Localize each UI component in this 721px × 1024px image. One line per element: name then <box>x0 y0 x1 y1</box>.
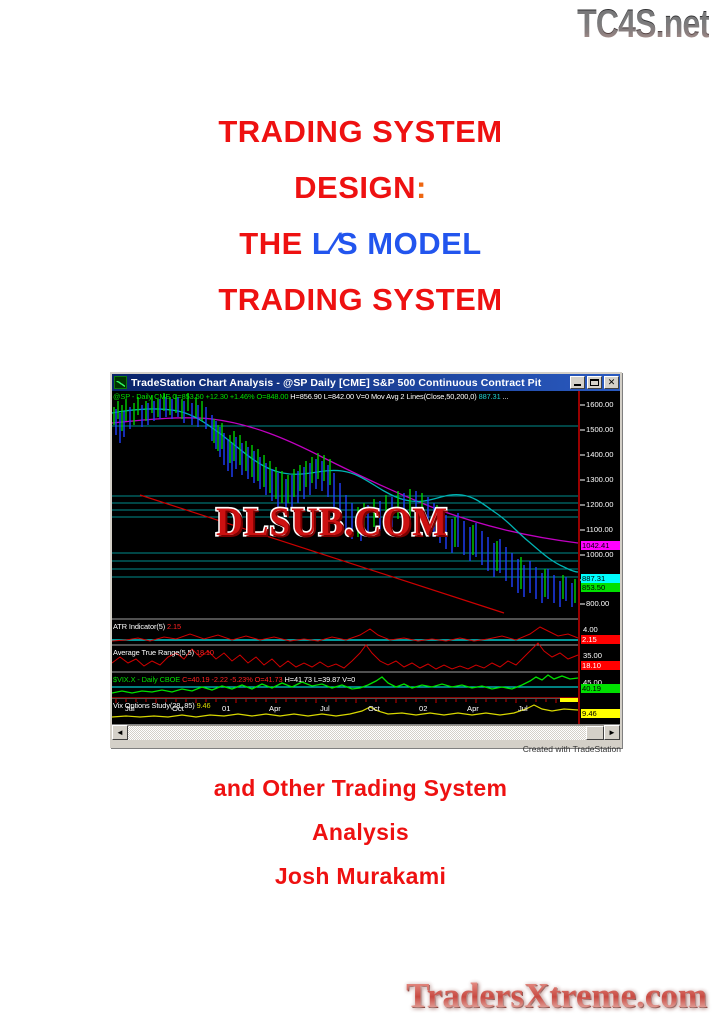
quote-change: +12.30 <box>206 392 228 401</box>
quote-volume: V=0 <box>356 392 369 401</box>
site-logo-top: TC4S.net <box>577 2 709 47</box>
price-tick-1100: 1100.00 <box>586 525 613 534</box>
scroll-right-arrow-icon[interactable]: ► <box>604 725 620 740</box>
quote-line-main: @SP - Daily CME C=853.50 +12.30 +1.46% O… <box>113 392 508 401</box>
quote-change-pct: +1.46% <box>230 392 255 401</box>
vix-symbol: $VIX.X - Daily <box>113 675 158 684</box>
vix-value-tag: 40.19 <box>581 684 620 693</box>
quote-study-name: Mov Avg 2 Lines(Close,50,200,0) <box>371 392 477 401</box>
window-title-text: TradeStation Chart Analysis - @SP Daily … <box>131 377 570 389</box>
average-true-range-label: Average True Range(5,5) <box>113 648 194 657</box>
quote-open: O=848.00 <box>256 392 288 401</box>
subtitle-block: and Other Trading System Analysis Josh M… <box>0 766 721 898</box>
maximize-icon[interactable] <box>587 376 602 389</box>
vix-high: H=41.73 <box>284 675 311 684</box>
vix-exchange: CBOE <box>160 675 181 684</box>
watermark-dlsub: DLSUB.COM <box>216 499 448 545</box>
title-line-3: THE L∕S MODEL <box>0 216 721 272</box>
title-line-2: DESIGN: <box>0 160 721 216</box>
atr55-tick-35: 35.00 <box>583 651 602 660</box>
price-tick-1200: 1200.00 <box>586 500 613 509</box>
title-line-2-colon: : <box>416 170 427 205</box>
quote-symbol: @SP - Daily <box>113 392 152 401</box>
subtitle-line-1: and Other Trading System <box>0 766 721 810</box>
window-titlebar[interactable]: TradeStation Chart Analysis - @SP Daily … <box>112 374 620 391</box>
average-true-range-value: 18.10 <box>196 648 214 657</box>
atr-label: ATR Indicator(5) <box>113 622 165 631</box>
quote-high: H=856.90 <box>290 392 321 401</box>
price-tick-1000: 1000.00 <box>586 550 613 559</box>
vix-low: L=39.87 <box>314 675 340 684</box>
price-tag-mov-avg-200: 1042.41 <box>581 541 620 550</box>
price-tick-800: 800.00 <box>586 599 609 608</box>
vix-change-pct: -5.23% <box>230 675 253 684</box>
vix-options-value: 9.46 <box>197 701 211 710</box>
scroll-left-arrow-icon[interactable]: ◄ <box>112 725 128 740</box>
quote-close: C=853.50 <box>172 392 203 401</box>
watermark-text: DLSUB.COM <box>216 500 448 544</box>
window-controls[interactable]: ✕ <box>570 376 619 389</box>
vix-open: O=41.73 <box>255 675 283 684</box>
quote-line-atr: ATR Indicator(5) 2.15 <box>113 622 181 631</box>
date-tick-2: 01 <box>222 704 230 713</box>
tradestation-window[interactable]: TradeStation Chart Analysis - @SP Daily … <box>110 372 622 748</box>
vix-options-value-tag: 9.46 <box>581 709 620 718</box>
quote-study-value: 887.31 <box>479 392 501 401</box>
title-line-3-the: THE <box>239 226 312 261</box>
vix-close: C=40.19 <box>182 675 209 684</box>
vix-change: -2.22 <box>212 675 228 684</box>
date-tick-8: Jul <box>518 704 528 713</box>
title-line-3-model: L∕S MODEL <box>312 226 482 261</box>
created-with-caption: Created with TradeStation <box>110 744 622 754</box>
atr-tick-4: 4.00 <box>583 625 598 634</box>
atr55-value-tag: 18.10 <box>581 661 620 670</box>
subtitle-line-2: Analysis <box>0 810 721 854</box>
date-tick-6: 02 <box>419 704 427 713</box>
date-tick-5: Oct <box>368 704 380 713</box>
quote-low: L=842.00 <box>324 392 354 401</box>
date-tick-0: Jul <box>125 704 135 713</box>
title-line-2-text: DESIGN <box>294 170 416 205</box>
vix-volume: V=0 <box>342 675 355 684</box>
author-name: Josh Murakami <box>0 854 721 898</box>
price-tick-1400: 1400.00 <box>586 450 613 459</box>
date-tick-1: Oct <box>172 704 184 713</box>
quote-line-vix: $VIX.X - Daily CBOE C=40.19 -2.22 -5.23%… <box>113 675 355 684</box>
title-line-4: TRADING SYSTEM <box>0 272 721 328</box>
chart-canvas[interactable]: @SP - Daily CME C=853.50 +12.30 +1.46% O… <box>112 391 620 724</box>
price-tick-1600: 1600.00 <box>586 400 613 409</box>
price-tag-last: 853.50 <box>581 583 620 592</box>
close-icon[interactable]: ✕ <box>604 376 619 389</box>
scrollbar-thumb[interactable] <box>586 726 604 740</box>
quote-line-average-true-range: Average True Range(5,5) 18.10 <box>113 648 214 657</box>
chart-horizontal-scrollbar[interactable]: ◄ ► <box>112 724 620 740</box>
minimize-icon[interactable] <box>570 376 585 389</box>
title-line-1: TRADING SYSTEM <box>0 104 721 160</box>
price-tick-1500: 1500.00 <box>586 425 613 434</box>
price-tick-1300: 1300.00 <box>586 475 613 484</box>
page-title: TRADING SYSTEM DESIGN: THE L∕S MODEL TRA… <box>0 104 721 328</box>
date-tick-3: Apr <box>269 704 281 713</box>
chart-app-icon <box>114 376 127 389</box>
atr-value: 2.15 <box>167 622 181 631</box>
quote-ellipsis: ... <box>503 392 509 401</box>
quote-exchange: CME <box>154 392 170 401</box>
price-tag-mov-avg-50: 887.31 <box>581 574 620 583</box>
atr-value-tag: 2.15 <box>581 635 620 644</box>
date-tick-4: Jul <box>320 704 330 713</box>
date-tick-7: Apr <box>467 704 479 713</box>
site-logo-bottom: TradersXtreme.com <box>406 976 707 1016</box>
scrollbar-track[interactable] <box>128 725 604 740</box>
